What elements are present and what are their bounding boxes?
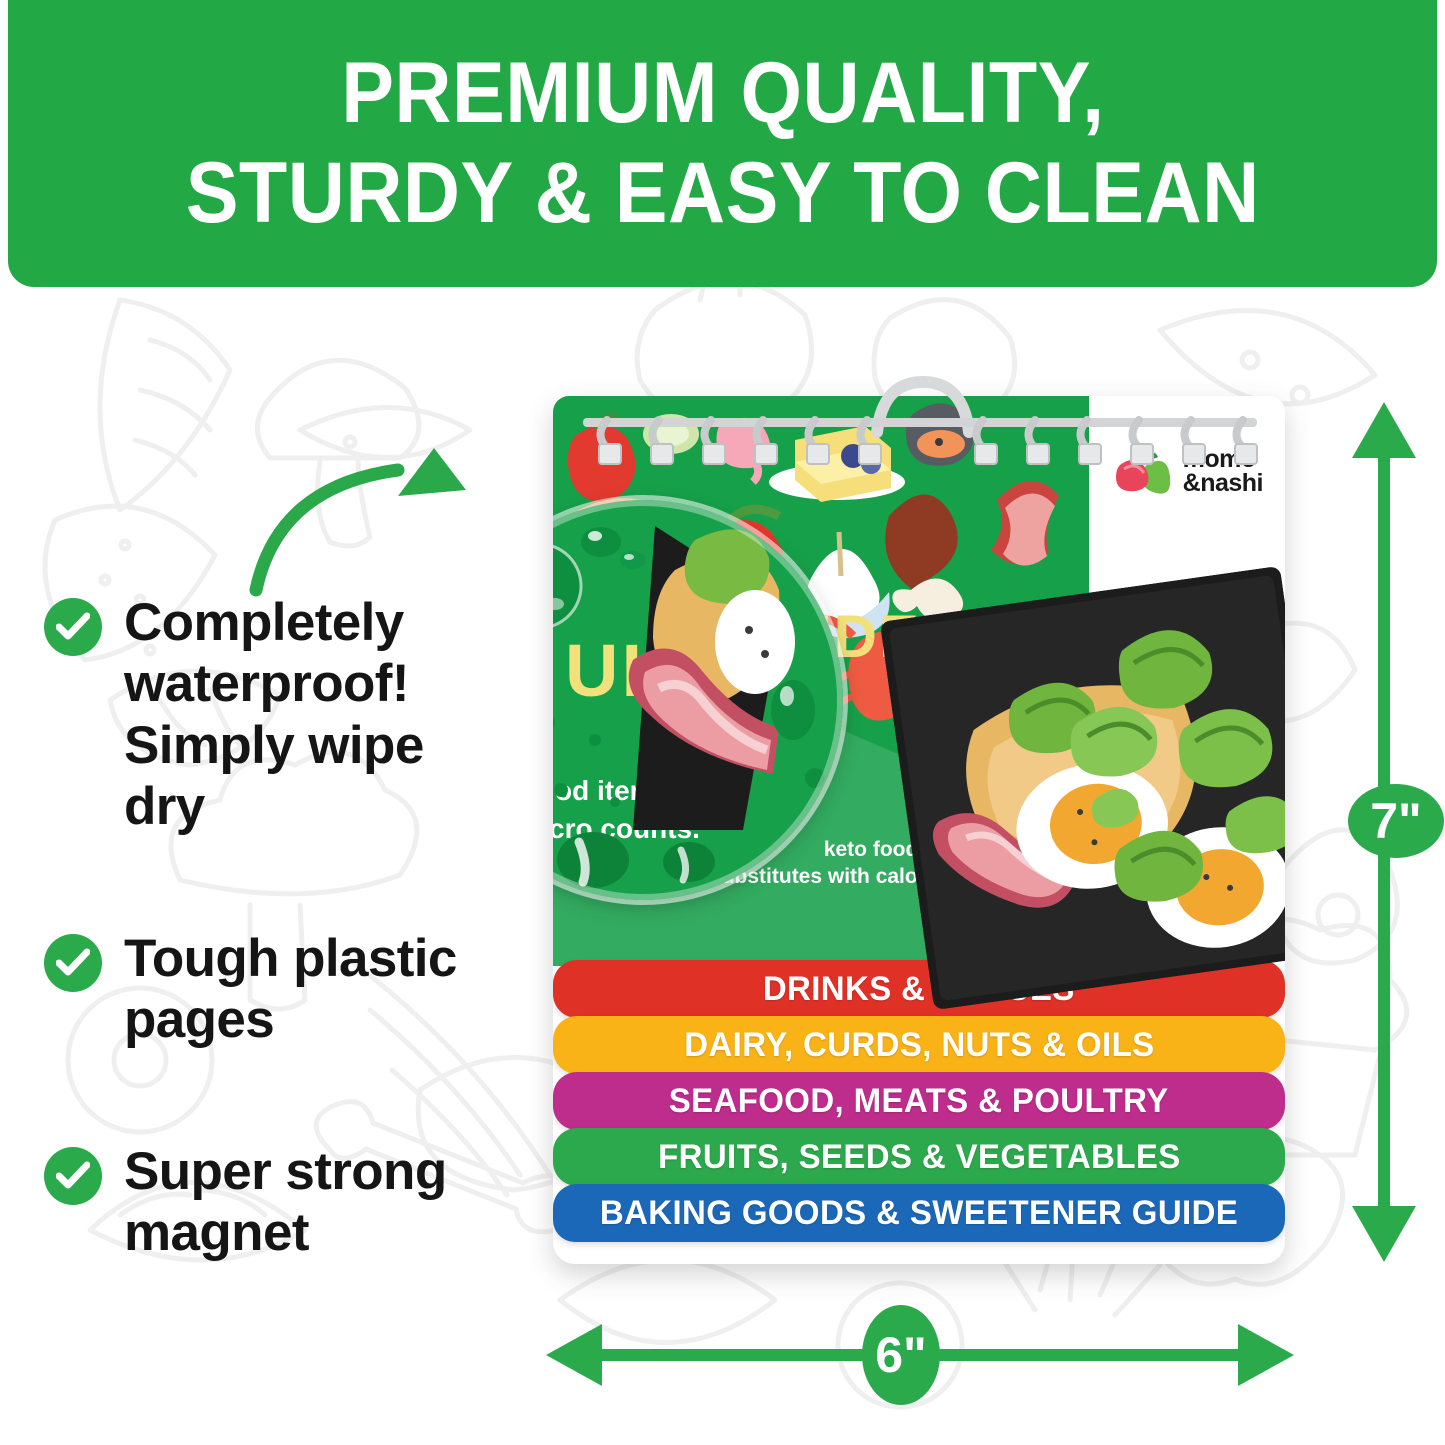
- category-tab-seafood-meats-poultry[interactable]: SEAFOOD, MEATS & POULTRY: [553, 1072, 1285, 1130]
- feature-label: Super strong magnet: [124, 1141, 484, 1264]
- height-dimension: 7": [1336, 396, 1432, 1268]
- curved-arrow-icon: [238, 438, 488, 613]
- width-label: 6": [875, 1326, 927, 1384]
- checkmark-glyph: [56, 612, 90, 642]
- category-tab-label: BAKING GOODS & SWEETENER GUIDE: [600, 1194, 1238, 1233]
- check-circle-icon: [44, 598, 102, 656]
- feature-list: Completely waterproof! Simply wipe dry T…: [44, 592, 514, 1264]
- feature-label: Tough plastic pages: [124, 928, 494, 1051]
- category-tab-dairy-curds-nuts-oils[interactable]: DAIRY, CURDS, NUTS & OILS: [553, 1016, 1285, 1074]
- checkmark-glyph: [56, 1161, 90, 1191]
- width-label-badge: 6": [862, 1305, 940, 1405]
- height-label: 7": [1370, 792, 1422, 850]
- category-tab-list: DRINKS & SAUCES DAIRY, CURDS, NUTS & OIL…: [553, 962, 1285, 1242]
- category-tab-fruits-seeds-vegetables[interactable]: FRUITS, SEEDS & VEGETABLES: [553, 1128, 1285, 1186]
- brand-name-line2: &nashi: [1183, 472, 1263, 496]
- category-tab-label: SEAFOOD, MEATS & POULTRY: [669, 1082, 1169, 1121]
- category-tab-baking-goods-sweetener[interactable]: BAKING GOODS & SWEETENER GUIDE: [553, 1184, 1285, 1242]
- keto-meal-illustration: [880, 566, 1285, 1010]
- height-label-badge: 7": [1348, 784, 1444, 858]
- feature-item-strong-magnet: Super strong magnet: [44, 1141, 514, 1264]
- category-tab-label: FRUITS, SEEDS & VEGETABLES: [658, 1138, 1181, 1177]
- spiral-binding: [547, 370, 1291, 466]
- header-banner: PREMIUM QUALITY, STURDY & EASY TO CLEAN: [8, 0, 1437, 287]
- feature-item-waterproof: Completely waterproof! Simply wipe dry: [44, 592, 514, 838]
- header-title-line2: STURDY & EASY TO CLEAN: [185, 151, 1259, 236]
- feature-item-tough-pages: Tough plastic pages: [44, 928, 514, 1051]
- product-image: GUIDE keto food items and substitutes wi…: [553, 396, 1285, 1264]
- checkmark-glyph: [56, 948, 90, 978]
- product-notepad: GUIDE keto food items and substitutes wi…: [553, 396, 1285, 1264]
- check-circle-icon: [44, 934, 102, 992]
- category-tab-label: DAIRY, CURDS, NUTS & OILS: [684, 1026, 1154, 1065]
- header-title-line1: PREMIUM QUALITY,: [341, 51, 1104, 136]
- feature-label: Completely waterproof! Simply wipe dry: [124, 592, 464, 838]
- width-dimension: 6": [540, 1300, 1300, 1410]
- check-circle-icon: [44, 1147, 102, 1205]
- keto-meal-photo: [880, 566, 1285, 1010]
